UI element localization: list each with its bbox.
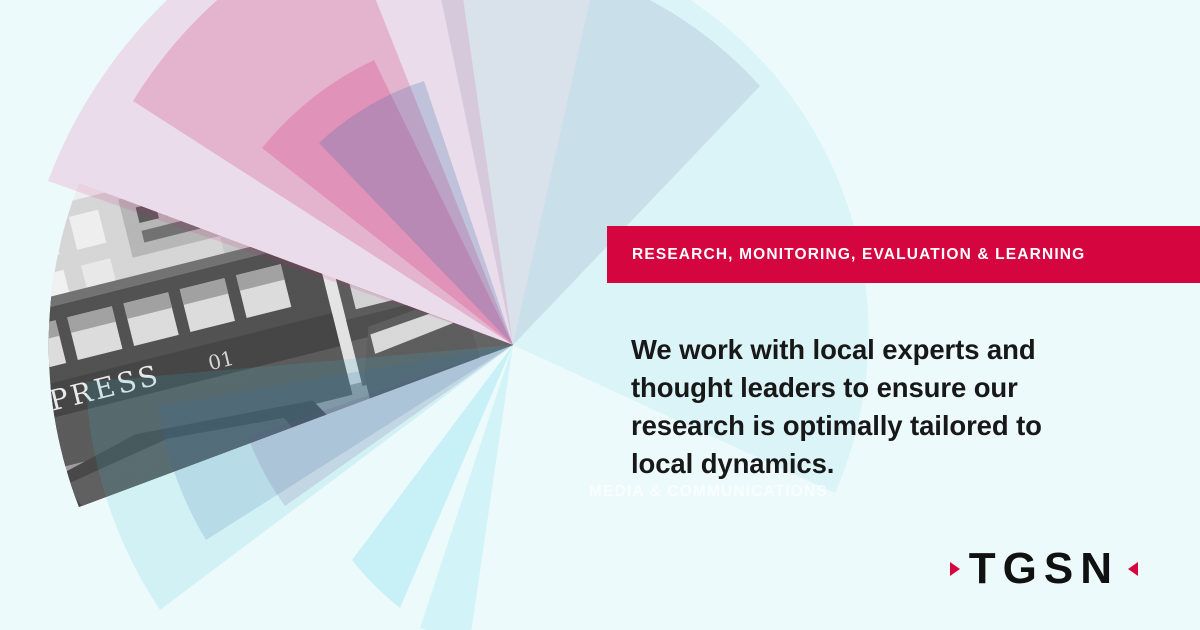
category-banner-label: RESEARCH, MONITORING, EVALUATION & LEARN…	[632, 246, 1085, 264]
content-column: RESEARCH, MONITORING, EVALUATION & LEARN…	[607, 0, 1200, 630]
tgsn-wordmark: TGSN	[969, 547, 1119, 591]
body-copy: We work with local experts and thought l…	[631, 331, 1101, 483]
triangle-left-icon	[1128, 562, 1138, 576]
slide-canvas: XPRESS 01	[0, 0, 1200, 630]
category-banner: RESEARCH, MONITORING, EVALUATION & LEARN…	[607, 226, 1200, 283]
triangle-right-icon	[950, 562, 960, 576]
tgsn-logo[interactable]: TGSN	[963, 540, 1138, 598]
ghost-category-label: MEDIA & COMMUNICATIONS	[589, 483, 828, 501]
